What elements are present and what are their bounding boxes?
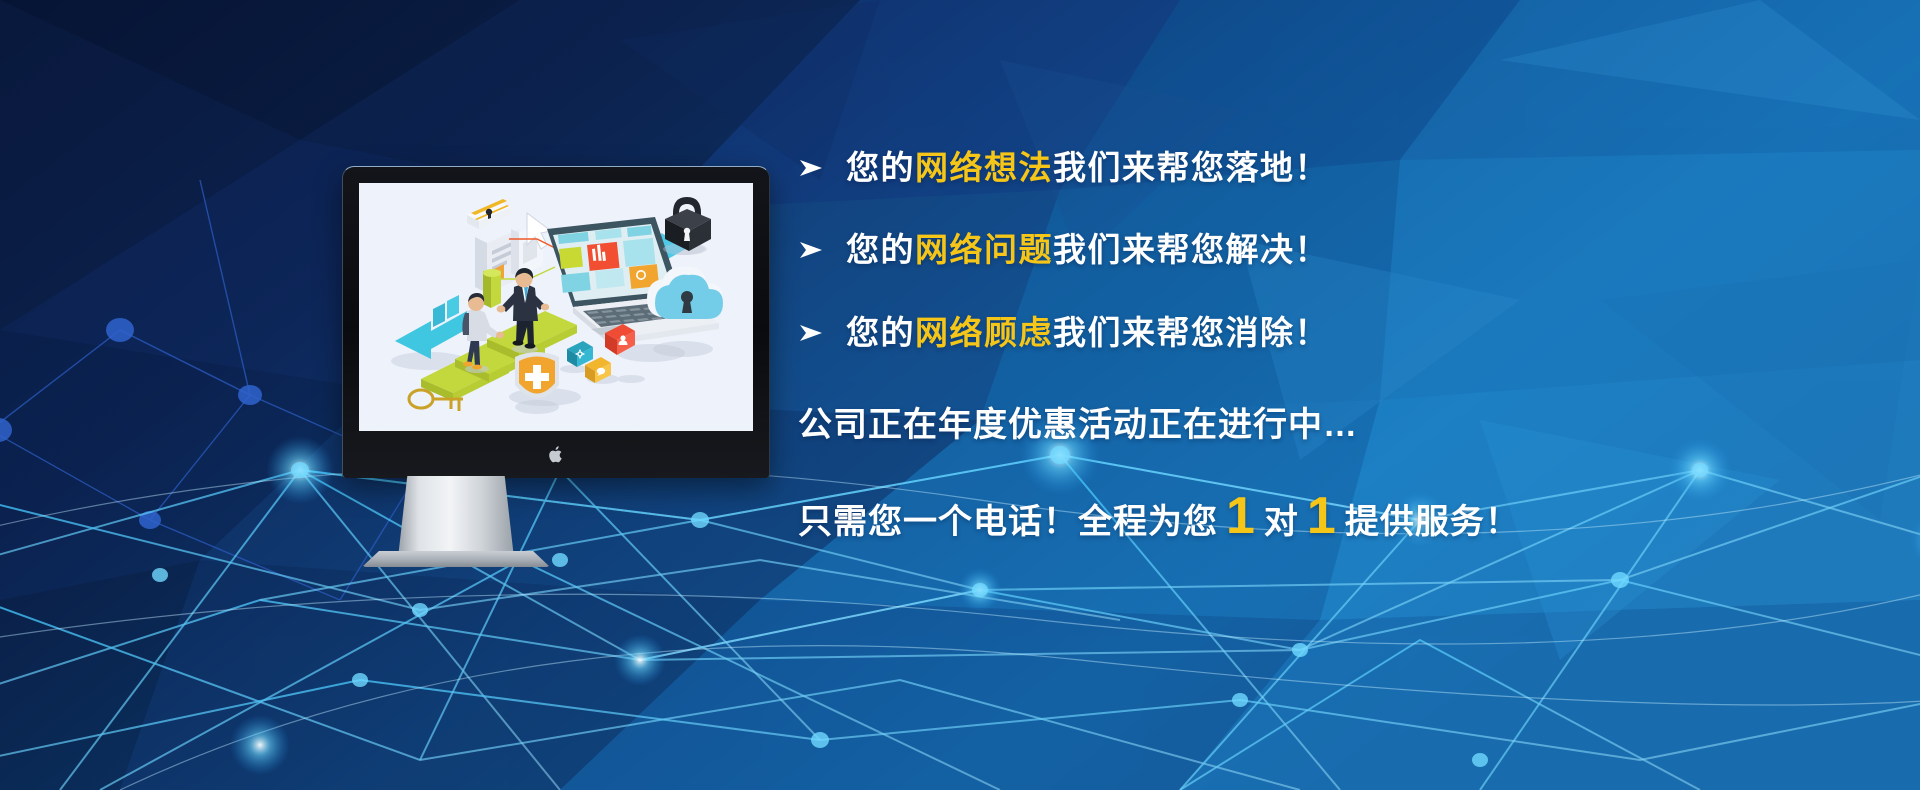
benefit-prefix: 您的 [846,231,915,268]
benefit-text: 您的网络问题我们来帮您解决！ [846,232,1329,268]
benefit-suffix: 我们来帮您落地！ [1053,149,1329,186]
promotional-banner: 您的网络想法我们来帮您落地！ 您的网络问题我们来帮您解决！ 您的网络顾虑我们来帮… [0,0,1920,790]
promo-text: 公司正在年度优惠活动正在进行中… [798,397,1738,446]
benefit-list: 您的网络想法我们来帮您落地！ 您的网络问题我们来帮您解决！ 您的网络顾虑我们来帮… [798,150,1738,351]
benefit-highlight: 网络问题 [915,231,1053,268]
isometric-security-illustration [359,183,753,431]
list-item: 您的网络想法我们来帮您落地！ [798,150,1738,186]
benefit-text: 您的网络想法我们来帮您落地！ [846,150,1329,186]
computer-monitor [342,166,770,478]
cta-text: 只需您一个电话！全程为您 1 对 1 提供服务！ [798,490,1738,542]
cta-lead: 只需您一个电话！全程为您 [798,505,1218,539]
cta-number-one: 1 [1226,490,1256,542]
benefit-prefix: 您的 [846,149,915,186]
list-item: 您的网络问题我们来帮您解决！ [798,232,1738,268]
arrow-bullet-icon [798,323,824,343]
list-item: 您的网络顾虑我们来帮您消除！ [798,315,1738,351]
benefit-prefix: 您的 [846,314,915,351]
apple-logo-icon [548,445,564,464]
cta-number-two: 1 [1307,490,1337,542]
monitor-chin [342,431,770,478]
arrow-bullet-icon [798,240,824,260]
benefit-text: 您的网络顾虑我们来帮您消除！ [846,315,1329,351]
benefit-highlight: 网络想法 [915,149,1053,186]
benefit-suffix: 我们来帮您消除！ [1053,314,1329,351]
benefit-suffix: 我们来帮您解决！ [1053,231,1329,268]
benefit-highlight: 网络顾虑 [915,314,1053,351]
monitor-screen [359,183,753,431]
marketing-copy: 您的网络想法我们来帮您落地！ 您的网络问题我们来帮您解决！ 您的网络顾虑我们来帮… [798,150,1738,542]
cta-tail: 提供服务！ [1345,505,1520,539]
monitor-stand-base [362,551,550,567]
monitor-stand-neck [398,476,514,558]
arrow-bullet-icon [798,158,824,178]
cta-middle: 对 [1264,505,1299,539]
